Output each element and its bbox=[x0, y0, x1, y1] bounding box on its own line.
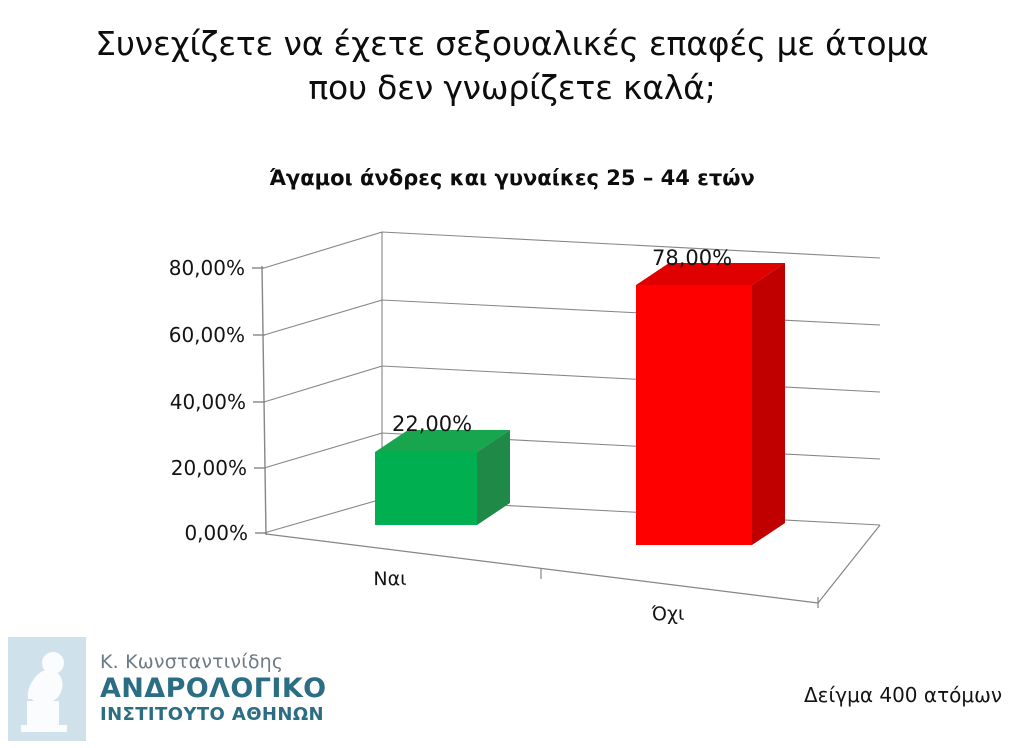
y-tick-label-20: 20,00% bbox=[137, 456, 247, 480]
x-tick-label-ochi: Όχι bbox=[618, 603, 718, 625]
y-tick-label-60: 60,00% bbox=[135, 323, 245, 347]
y-tick-label-40: 40,00% bbox=[136, 390, 246, 414]
sample-size-note: Δείγμα 400 ατόμων bbox=[804, 683, 1002, 707]
bar-ochi bbox=[636, 263, 785, 545]
gridlines bbox=[264, 232, 880, 533]
chart-canvas bbox=[0, 0, 1024, 748]
logo-text-block: Κ. Κωνσταντινίδης ΑΝΔΡΟΛΟΓΙΚΟ ΙΝΣΤΙΤΟΥΤΟ… bbox=[100, 653, 327, 724]
y-axis-line bbox=[262, 266, 266, 535]
x-tick-label-nai: Ναι bbox=[340, 568, 440, 590]
logo-line-institute: ΑΝΔΡΟΛΟΓΙΚΟ bbox=[100, 675, 327, 703]
chart-3d-bar: 80,00% 60,00% 40,00% 20,00% 0,00% Ναι Όχ… bbox=[0, 0, 1024, 748]
logo-line-name: Κ. Κωνσταντινίδης bbox=[100, 653, 327, 673]
bar-nai bbox=[375, 430, 510, 525]
y-tick-label-0: 0,00% bbox=[138, 521, 248, 545]
thinker-statue-svg bbox=[8, 637, 86, 741]
brand-logo: Κ. Κωνσταντινίδης ΑΝΔΡΟΛΟΓΙΚΟ ΙΝΣΤΙΤΟΥΤΟ… bbox=[8, 637, 327, 741]
logo-line-city: ΙΝΣΤΙΤΟΥΤΟ ΑΘΗΝΩΝ bbox=[100, 706, 327, 725]
y-tick-label-80: 80,00% bbox=[135, 256, 245, 280]
data-label-ochi: 78,00% bbox=[652, 246, 732, 270]
floor-edges bbox=[266, 525, 880, 608]
data-label-nai: 22,00% bbox=[392, 412, 472, 436]
thinker-statue-icon bbox=[8, 637, 86, 741]
